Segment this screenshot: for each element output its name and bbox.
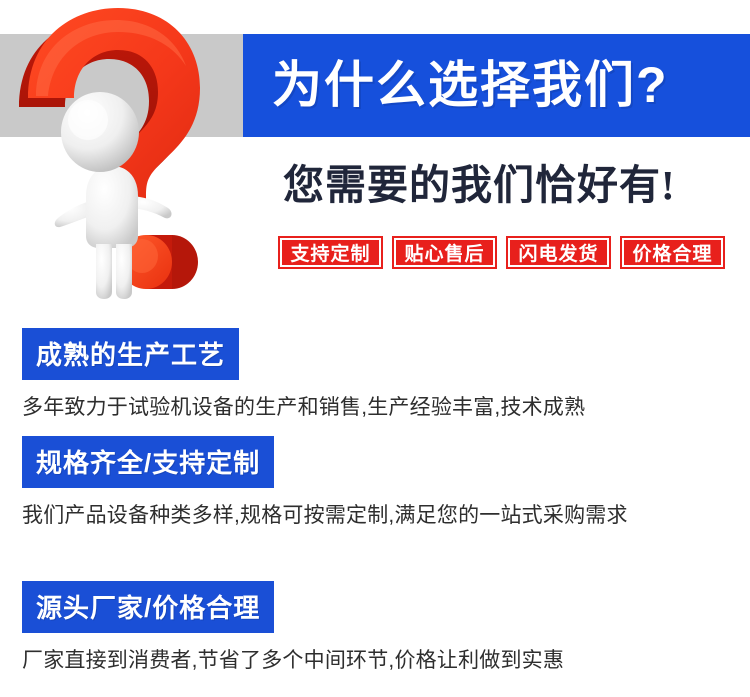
hero-section: 为什么选择我们? 您需要的我们恰好有! 支持定制 贴心售后 闪电发货 价格合理 <box>0 0 750 300</box>
feature-section: 规格齐全/支持定制 我们产品设备种类多样,规格可按需定制,满足您的一站式采购需求 <box>0 436 750 532</box>
feature-section-heading: 规格齐全/支持定制 <box>22 436 274 488</box>
feature-tag-row: 支持定制 贴心售后 闪电发货 价格合理 <box>278 236 725 269</box>
feature-tag-label: 支持定制 <box>282 240 379 265</box>
feature-tag: 支持定制 <box>278 236 383 269</box>
feature-tag-label: 价格合理 <box>624 240 721 265</box>
feature-tag-label: 贴心售后 <box>396 240 493 265</box>
feature-tag-label: 闪电发货 <box>510 240 607 265</box>
feature-section-body: 多年致力于试验机设备的生产和销售,生产经验丰富,技术成熟 <box>22 392 728 424</box>
feature-tag: 闪电发货 <box>506 236 611 269</box>
feature-section-body: 我们产品设备种类多样,规格可按需定制,满足您的一站式采购需求 <box>22 500 728 532</box>
banner-title: 为什么选择我们? <box>272 48 742 122</box>
feature-tag: 贴心售后 <box>392 236 497 269</box>
feature-tag: 价格合理 <box>620 236 725 269</box>
feature-section: 成熟的生产工艺 多年致力于试验机设备的生产和销售,生产经验丰富,技术成熟 <box>0 328 750 424</box>
feature-section-heading: 成熟的生产工艺 <box>22 328 239 380</box>
question-mark-illustration <box>0 0 245 300</box>
feature-section-body: 厂家直接到消费者,节省了多个中间环节,价格让利做到实惠 <box>22 645 728 677</box>
feature-section: 源头厂家/价格合理 厂家直接到消费者,节省了多个中间环节,价格让利做到实惠 <box>0 581 750 677</box>
banner-subtitle: 您需要的我们恰好有! <box>283 158 733 212</box>
feature-section-heading: 源头厂家/价格合理 <box>22 581 274 633</box>
